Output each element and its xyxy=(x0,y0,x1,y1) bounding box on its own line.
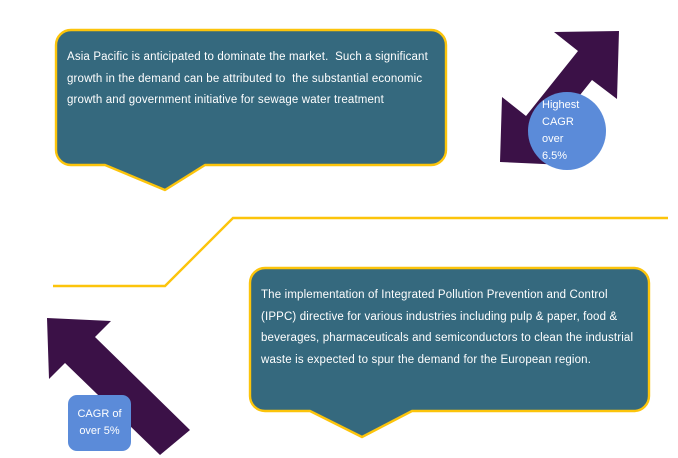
highest-cagr-badge-line-3: over xyxy=(542,131,563,148)
infographic-canvas: Asia Pacific is anticipated to dominate … xyxy=(0,0,678,458)
highest-cagr-badge: Highest CAGR over 6.5% xyxy=(528,92,606,170)
asia-pacific-callout-shape xyxy=(56,30,446,190)
europe-callout-shape xyxy=(250,268,649,437)
cagr-over-5-badge-line-1: CAGR of xyxy=(77,406,121,423)
cagr-over-5-badge: CAGR of over 5% xyxy=(68,395,131,451)
highest-cagr-badge-line-4: 6.5% xyxy=(542,148,567,165)
vector-graphics-layer xyxy=(0,0,678,458)
highest-cagr-badge-line-2: CAGR xyxy=(542,114,574,131)
cagr-over-5-badge-line-2: over 5% xyxy=(79,423,119,440)
highest-cagr-badge-line-1: Highest xyxy=(542,97,579,114)
